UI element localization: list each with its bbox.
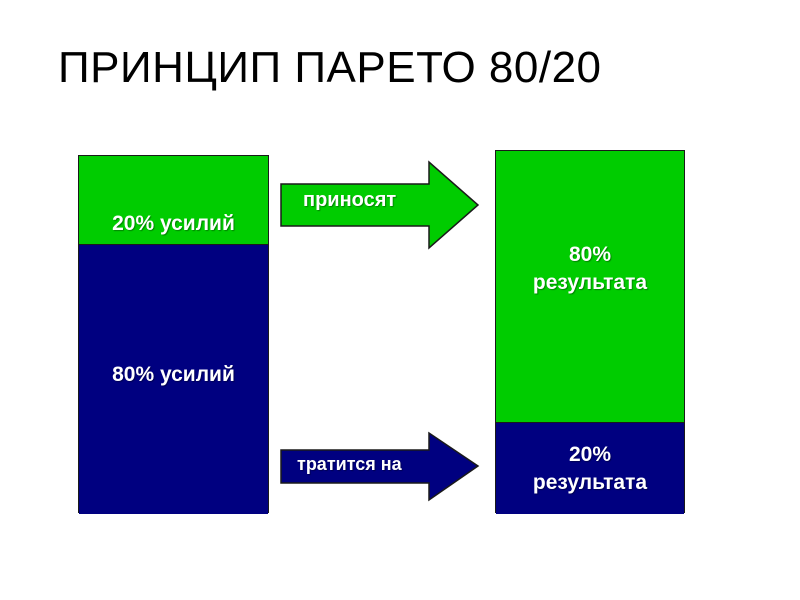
results-column: 80% результата 20% результата [495,150,685,513]
efforts-80-label: 80% усилий [112,363,235,387]
results-80-label: 80% результата [533,241,647,296]
page-title: ПРИНЦИП ПАРЕТО 80/20 [58,46,748,90]
efforts-20-label: 20% усилий [112,212,235,236]
results-80-word: результата [533,269,647,296]
results-20-label: 20% результата [533,441,647,496]
results-20-segment: 20% результата [496,422,684,514]
blue-arrow-label: тратится на [297,454,402,475]
efforts-column: 20% усилий 80% усилий [78,155,269,513]
results-80-percent: 80% [533,241,647,268]
efforts-80-segment: 80% усилий [79,244,268,514]
blue-arrow: тратится на [279,431,480,502]
green-arrow-label: приносят [303,189,396,212]
slide-canvas: ПРИНЦИП ПАРЕТО 80/20 20% усилий 80% усил… [0,0,800,600]
results-20-percent: 20% [533,441,647,468]
green-arrow: приносят [279,160,480,250]
results-80-segment: 80% результата [496,151,684,422]
results-20-word: результата [533,469,647,496]
efforts-20-segment: 20% усилий [79,156,268,244]
